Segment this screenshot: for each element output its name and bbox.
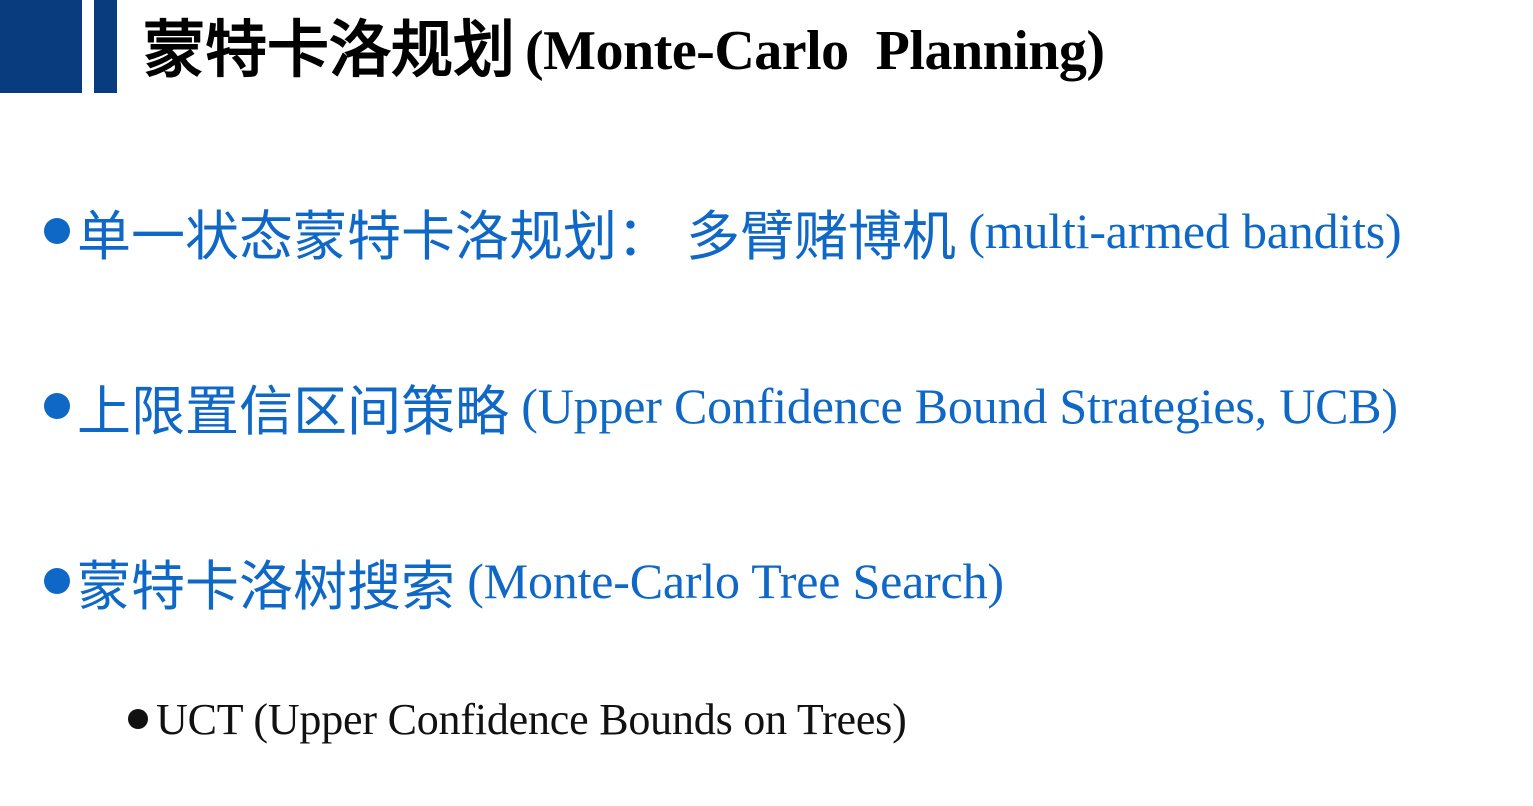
bullet-text-cjk: 上限置信区间策略 — [77, 367, 509, 446]
title-accent-square-icon — [0, 0, 82, 93]
bullet-text-latin: (multi-armed bandits) — [956, 202, 1401, 260]
sub-bullet-dot-icon — [128, 709, 148, 729]
slide-canvas: 蒙特卡洛规划(Monte-Carlo Planning) 单一状态蒙特卡洛规划：… — [0, 0, 1533, 806]
bullet-text-cjk: 蒙特卡洛树搜索 — [77, 542, 455, 621]
bullet-dot-icon — [44, 393, 70, 419]
slide-title: 蒙特卡洛规划(Monte-Carlo Planning) — [143, 7, 1105, 95]
bullet-dot-icon — [44, 568, 70, 594]
bullet-text-latin: (Upper Confidence Bound Strategies, UCB) — [509, 377, 1398, 435]
slide-title-latin: (Monte-Carlo Planning) — [515, 23, 1105, 79]
bullet-text-latin: (Monte-Carlo Tree Search) — [455, 552, 1004, 610]
sub-bullet-item-uct: UCT (Upper Confidence Bounds on Trees) — [128, 693, 907, 745]
bullet-text-cjk: 单一状态蒙特卡洛规划： 多臂赌博机 — [77, 192, 956, 271]
bullet-item-upper-confidence-bound: 上限置信区间策略 (Upper Confidence Bound Strateg… — [44, 377, 1398, 435]
title-accent-bar-icon — [94, 0, 117, 93]
slide-title-cjk: 蒙特卡洛规划 — [143, 20, 515, 82]
bullet-item-multi-armed-bandits: 单一状态蒙特卡洛规划： 多臂赌博机 (multi-armed bandits) — [44, 202, 1402, 260]
bullet-dot-icon — [44, 218, 70, 244]
sub-bullet-text: UCT (Upper Confidence Bounds on Trees) — [156, 694, 907, 745]
bullet-item-monte-carlo-tree-search: 蒙特卡洛树搜索 (Monte-Carlo Tree Search) — [44, 552, 1004, 610]
